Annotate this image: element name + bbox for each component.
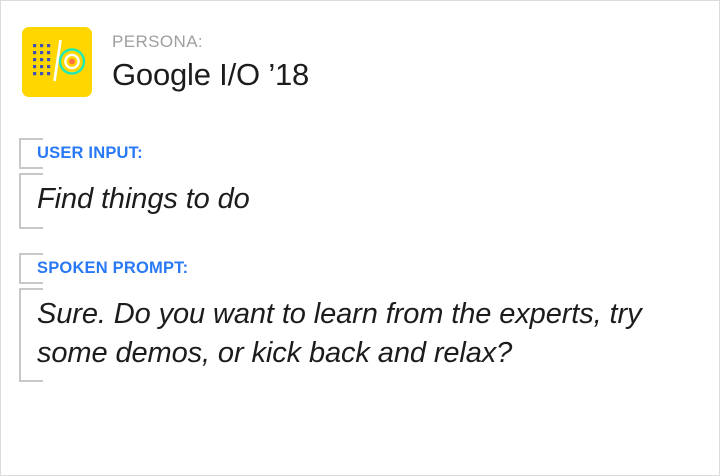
persona-label: PERSONA: [112,31,309,52]
section-user-input: USER INPUT: Find things to do [19,138,250,229]
persona-title: Google I/O ’18 [112,56,309,93]
spoken-prompt-label: SPOKEN PROMPT: [37,258,667,279]
persona-text-block: PERSONA: Google I/O ’18 [112,27,309,93]
user-input-label-bracket: USER INPUT: [19,138,250,169]
section-spoken-prompt: SPOKEN PROMPT: Sure. Do you want to lear… [19,253,667,382]
user-input-label: USER INPUT: [37,143,250,164]
google-io-logo-icon [22,27,92,97]
user-input-value: Find things to do [37,180,250,218]
spoken-prompt-value-bracket: Sure. Do you want to learn from the expe… [19,288,667,382]
spoken-prompt-value: Sure. Do you want to learn from the expe… [37,295,667,372]
persona-card-page: PERSONA: Google I/O ’18 USER INPUT: Find… [0,0,720,476]
spoken-prompt-label-bracket: SPOKEN PROMPT: [19,253,667,284]
user-input-value-bracket: Find things to do [19,173,250,228]
persona-header: PERSONA: Google I/O ’18 [22,27,309,97]
